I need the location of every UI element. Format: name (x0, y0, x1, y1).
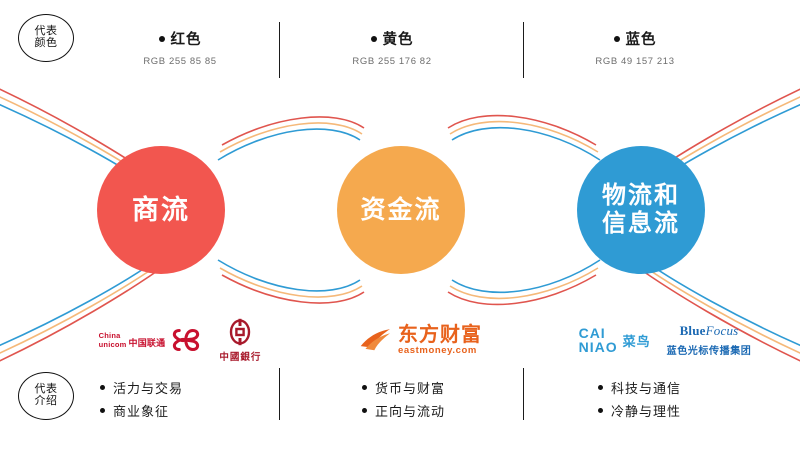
bullet-list-commerce: 活力与交易 商业象征 (100, 378, 183, 424)
logo-group-logistics-information: CAI NIAO 菜鸟 BlueFocus 蓝色光标传播集团 (540, 312, 790, 368)
logo-group-commerce: China unicom 中国联通 中國銀行 (80, 312, 280, 368)
badge-color-line2: 颜色 (35, 38, 58, 50)
unicom-wordmark: China unicom (99, 331, 127, 350)
flow-label-line2: 信息流 (602, 210, 680, 238)
list-item: 商业象征 (100, 401, 183, 424)
bluefocus-cn: 蓝色光标传播集团 (667, 342, 752, 357)
color-column-blue: 蓝色 RGB 49 157 213 (555, 28, 715, 67)
cainiao-en-line2: NIAO (579, 340, 618, 354)
bank-of-china-icon (225, 317, 255, 347)
eastmoney-en: eastmoney.com (398, 346, 482, 356)
footer-divider-1 (279, 368, 280, 420)
bluefocus-en-bold: Blue (680, 323, 706, 338)
color-name-yellow: 黄色 (312, 28, 472, 49)
color-rgb-yellow: RGB 255 176 82 (312, 56, 472, 67)
logo-china-unicom: China unicom 中国联通 (99, 323, 204, 357)
eastmoney-wordmark: 东方财富 eastmoney.com (398, 325, 482, 356)
bullet-list-logistics-information: 科技与通信 冷静与理性 (598, 378, 681, 424)
china-unicom-icon (169, 323, 203, 357)
logo-group-capital: 东方财富 eastmoney.com (300, 312, 540, 368)
flow-label-line1: 物流和 (602, 182, 680, 210)
list-item: 冷静与理性 (598, 401, 681, 424)
flow-label-commerce: 商流 (132, 195, 190, 225)
header-divider-1 (279, 22, 280, 78)
flow-circle-commerce[interactable]: 商流 (97, 146, 225, 274)
color-name-blue: 蓝色 (555, 28, 715, 49)
unicom-cn: 中国联通 (129, 338, 166, 349)
flow-label-logistics-information: 物流和 信息流 (602, 182, 680, 238)
header-row: 代表 颜色 红色 RGB 255 85 85 黄色 RGB 255 176 82… (0, 0, 800, 92)
header-divider-2 (523, 22, 524, 78)
color-rgb-blue: RGB 49 157 213 (555, 56, 715, 67)
color-name-red: 红色 (100, 28, 260, 49)
eastmoney-cn: 东方财富 (398, 325, 482, 346)
logo-bluefocus: BlueFocus 蓝色光标传播集团 (667, 323, 752, 357)
eastmoney-icon (358, 326, 392, 354)
list-item: 货币与财富 (362, 378, 445, 401)
bluefocus-en: BlueFocus (680, 323, 739, 339)
logo-eastmoney: 东方财富 eastmoney.com (358, 325, 482, 356)
logo-bank-of-china: 中國銀行 (219, 317, 261, 363)
badge-intro-line2: 介绍 (35, 396, 58, 408)
flow-circle-logistics-information[interactable]: 物流和 信息流 (577, 146, 705, 274)
unicom-en-line1: China (99, 331, 127, 340)
flow-circle-capital[interactable]: 资金流 (337, 146, 465, 274)
list-item: 活力与交易 (100, 378, 183, 401)
bullet-dot-icon (159, 36, 165, 42)
cainiao-en-line1: CAI (579, 326, 618, 340)
bullet-dot-icon (371, 36, 377, 42)
cainiao-cn: 菜鸟 (623, 331, 651, 350)
boc-wordmark: 中國銀行 (219, 349, 261, 363)
badge-representative-color: 代表 颜色 (18, 14, 74, 62)
color-rgb-red: RGB 255 85 85 (100, 56, 260, 67)
bluefocus-en-light: Focus (706, 323, 739, 338)
badge-representative-intro: 代表 介绍 (18, 372, 74, 420)
flow-label-capital: 资金流 (360, 196, 441, 224)
bullet-dot-icon (614, 36, 620, 42)
unicom-en-line2: unicom (99, 340, 127, 349)
footer-divider-2 (523, 368, 524, 420)
logo-cainiao: CAI NIAO 菜鸟 (579, 326, 651, 354)
list-item: 正向与流动 (362, 401, 445, 424)
cainiao-wordmark: CAI NIAO (579, 326, 618, 354)
bullet-list-capital: 货币与财富 正向与流动 (362, 378, 445, 424)
list-item: 科技与通信 (598, 378, 681, 401)
color-column-yellow: 黄色 RGB 255 176 82 (312, 28, 472, 67)
color-column-red: 红色 RGB 255 85 85 (100, 28, 260, 67)
